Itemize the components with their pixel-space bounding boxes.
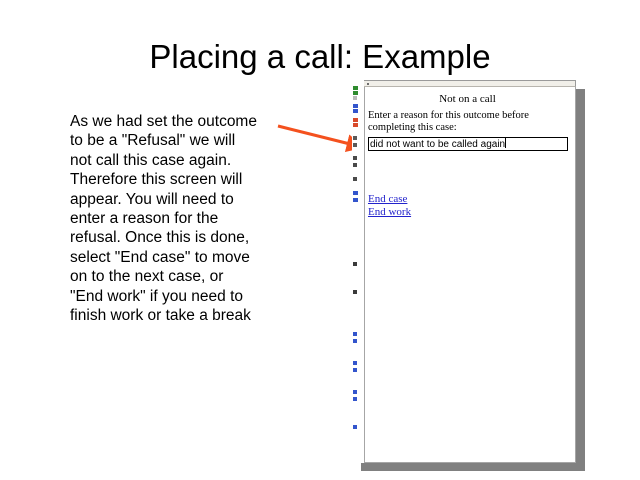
clipped-text-fragment: [353, 123, 358, 127]
reason-input-value: did not want to be called again: [370, 139, 505, 150]
clipped-text-fragment: [353, 86, 358, 90]
panel-instruction-text: Enter a reason for this outcome before c…: [368, 110, 567, 134]
end-work-link[interactable]: End work: [368, 206, 567, 219]
reason-input[interactable]: did not want to be called again: [368, 137, 568, 151]
clipped-text-fragment: [353, 136, 357, 140]
clipped-text-fragment: [353, 332, 357, 336]
page-title: Placing a call: Example: [0, 38, 640, 76]
window-toolbar-strip: [364, 80, 576, 87]
slide-body-text: As we had set the outcome to be a "Refus…: [70, 112, 260, 325]
clipped-text-fragment: [353, 198, 358, 202]
clipped-text-fragment: [353, 425, 357, 429]
clipped-text-fragment: [353, 397, 357, 401]
clipped-text-fragment: [353, 143, 357, 147]
embedded-screenshot-window: Not on a call Enter a reason for this ou…: [352, 80, 576, 463]
clipped-text-fragment: [353, 361, 357, 365]
clipped-text-fragment: [353, 262, 357, 266]
clipped-text-fragment: [353, 104, 358, 108]
clipped-text-fragment: [353, 118, 358, 122]
clipped-text-fragment: [353, 191, 358, 195]
clipped-text-fragment: [353, 163, 357, 167]
end-case-link[interactable]: End case: [368, 193, 567, 206]
window-content-frame: Not on a call Enter a reason for this ou…: [364, 87, 576, 463]
clipped-text-fragment: [353, 339, 357, 343]
clipped-text-fragment: [353, 91, 358, 95]
slide-canvas: Placing a call: Example As we had set th…: [0, 0, 640, 480]
clipped-text-fragment: [353, 177, 357, 181]
panel-action-links: End case End work: [368, 193, 567, 219]
panel-heading: Not on a call: [368, 93, 567, 106]
clipped-text-fragment: [353, 390, 357, 394]
clipped-text-fragment: [353, 290, 357, 294]
toolbar-tick-icon: [367, 83, 369, 85]
clipped-text-fragment: [353, 109, 358, 113]
text-caret: [505, 138, 506, 148]
clipped-text-fragment: [353, 96, 357, 100]
clipped-page-left-strip: [352, 80, 364, 463]
clipped-text-fragment: [353, 156, 357, 160]
clipped-text-fragment: [353, 368, 357, 372]
